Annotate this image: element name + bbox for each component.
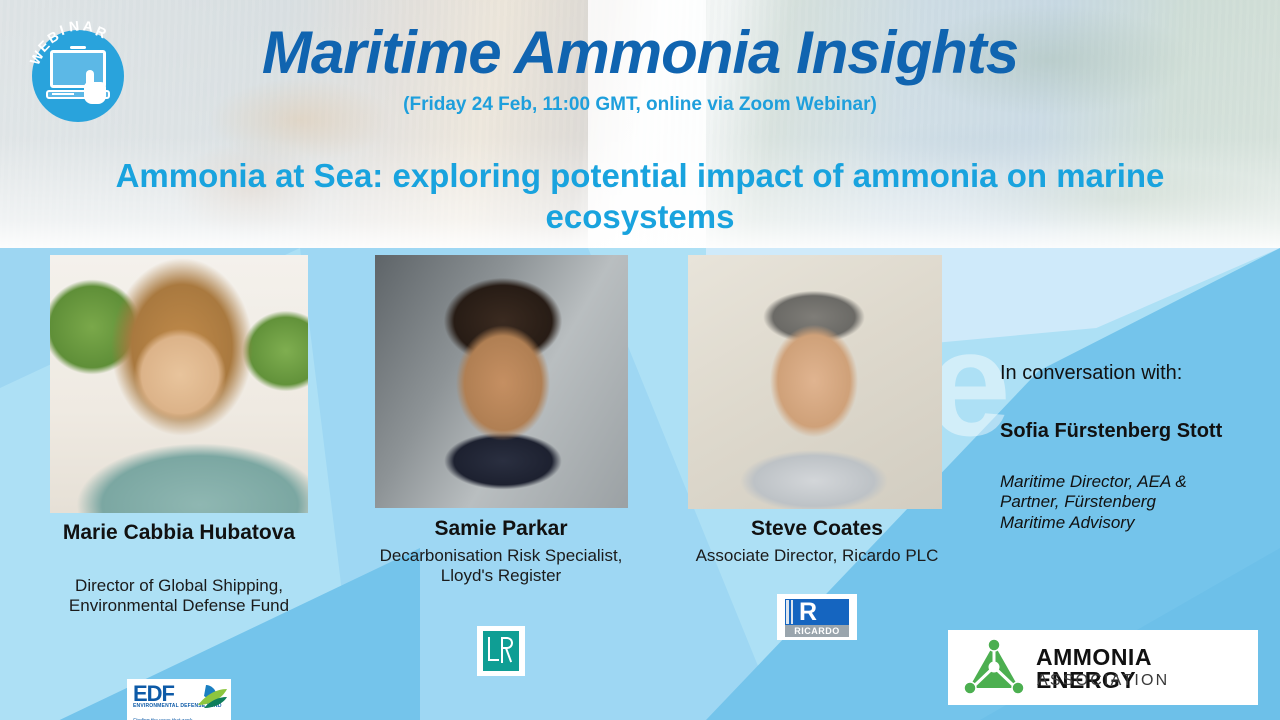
page-title: Maritime Ammonia Insights <box>0 18 1280 87</box>
speaker-name-3: Steve Coates <box>688 517 946 541</box>
speaker-photo-3 <box>688 255 942 509</box>
speaker-photo-1 <box>50 255 308 513</box>
speaker-role-2: Decarbonisation Risk Specialist, Lloyd's… <box>372 546 630 586</box>
ricardo-initial: R <box>799 599 817 625</box>
conversation-host-name: Sofia Fürstenberg Stott <box>1000 420 1250 444</box>
edf-swoosh-icon <box>186 683 228 709</box>
aea-line2: ASSOCIATION <box>1037 673 1169 689</box>
speaker-role-3: Associate Director, Ricardo PLC <box>688 546 946 566</box>
session-headline: Ammonia at Sea: exploring potential impa… <box>110 155 1170 238</box>
speaker-name-1: Marie Cabbia Hubatova <box>48 521 310 545</box>
conversation-label: In conversation with: <box>1000 362 1270 385</box>
speaker-photo-2 <box>375 255 628 508</box>
ricardo-wordmark: RICARDO <box>785 625 849 637</box>
event-datetime: (Friday 24 Feb, 11:00 GMT, online via Zo… <box>0 94 1280 116</box>
lloyds-register-logo <box>477 626 525 676</box>
edf-logo: EDF ENVIRONMENTAL DEFENSE FUND Finding t… <box>127 679 231 720</box>
conversation-host-role: Maritime Director, AEA & Partner, Fürste… <box>1000 472 1215 533</box>
ricardo-logo: R RICARDO <box>777 594 857 640</box>
ammonia-energy-association-logo: AMMONIA ENERGY ASSOCIATION <box>948 630 1258 705</box>
speaker-role-1: Director of Global Shipping, Environment… <box>48 576 310 616</box>
aea-molecule-icon <box>964 638 1024 696</box>
edf-initials: EDF <box>133 683 174 705</box>
webinar-poster: ae W E B I N A R Maritime Ammonia Insigh… <box>0 0 1280 720</box>
speaker-name-2: Samie Parkar <box>372 517 630 541</box>
